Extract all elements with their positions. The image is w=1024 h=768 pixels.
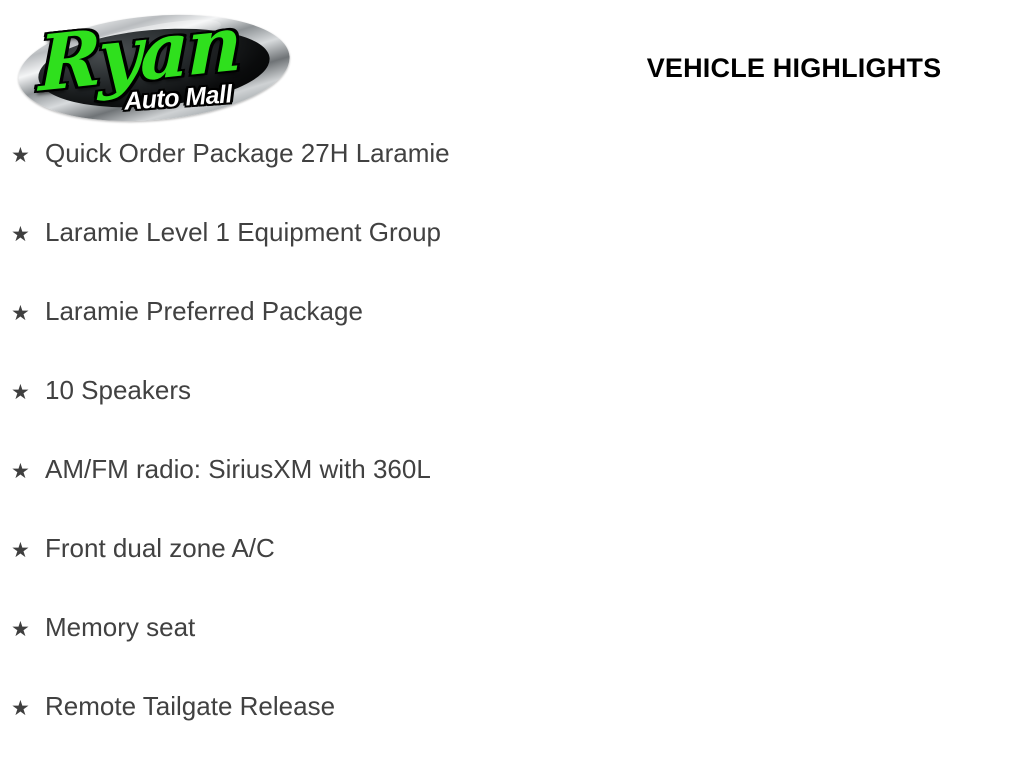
list-item: ★10 Speakers (0, 372, 1024, 451)
list-item: ★Front dual zone A/C (0, 530, 1024, 609)
list-item: ★AM/FM radio: SiriusXM with 360L (0, 451, 1024, 530)
list-item: ★Memory seat (0, 609, 1024, 688)
star-bullet-icon: ★ (11, 216, 45, 253)
highlight-label: 10 Speakers (45, 372, 191, 409)
page-header: Ryan Auto Mall VEHICLE HIGHLIGHTS (0, 0, 1024, 135)
star-bullet-icon: ★ (11, 374, 45, 411)
star-bullet-icon: ★ (11, 611, 45, 648)
highlight-label: AM/FM radio: SiriusXM with 360L (45, 451, 431, 488)
highlight-label: Memory seat (45, 609, 195, 646)
star-bullet-icon: ★ (11, 690, 45, 727)
page-title: VEHICLE HIGHLIGHTS (600, 52, 1024, 84)
list-item: ★Laramie Preferred Package (0, 293, 1024, 372)
star-bullet-icon: ★ (11, 295, 45, 332)
list-item: ★Laramie Level 1 Equipment Group (0, 214, 1024, 293)
list-item: ★Quick Order Package 27H Laramie (0, 135, 1024, 214)
dealer-logo[interactable]: Ryan Auto Mall (18, 10, 293, 122)
star-bullet-icon: ★ (11, 532, 45, 569)
star-bullet-icon: ★ (11, 453, 45, 490)
list-item: ★Remote Tailgate Release (0, 688, 1024, 767)
vehicle-highlights-list: ★Quick Order Package 27H Laramie★Laramie… (0, 135, 1024, 767)
highlight-label: Quick Order Package 27H Laramie (45, 135, 450, 172)
star-bullet-icon: ★ (11, 137, 45, 174)
highlight-label: Laramie Level 1 Equipment Group (45, 214, 441, 251)
highlight-label: Front dual zone A/C (45, 530, 275, 567)
highlight-label: Remote Tailgate Release (45, 688, 335, 725)
highlight-label: Laramie Preferred Package (45, 293, 363, 330)
